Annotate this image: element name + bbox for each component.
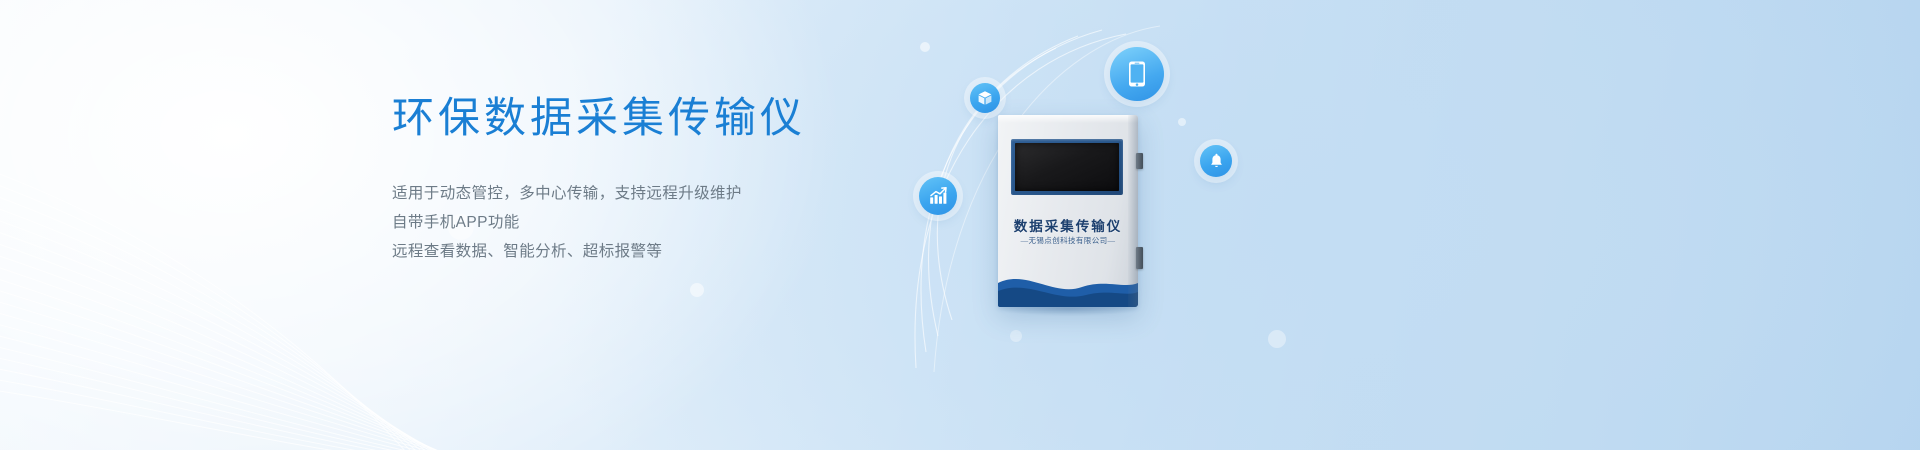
device-wave-graphic [998, 263, 1138, 307]
device-hinge-top [1136, 153, 1143, 169]
device-screen-bezel [1011, 139, 1123, 195]
device-hinge-bottom [1136, 247, 1143, 269]
data-acquisition-device: 数据采集传输仪 —无锡点创科技有限公司— [998, 115, 1138, 307]
device-side-shade [1128, 115, 1138, 307]
bar-chart-growth-icon[interactable] [919, 177, 957, 215]
device-brand-label: 数据采集传输仪 [998, 215, 1138, 235]
product-hero-banner: 环保数据采集传输仪 适用于动态管控，多中心传输，支持远程升级维护 自带手机APP… [0, 0, 1920, 450]
alarm-bell-icon[interactable] [1200, 145, 1232, 177]
decor-bubble [690, 283, 704, 297]
package-box-icon[interactable] [970, 83, 1000, 113]
product-visual: 数据采集传输仪 —无锡点创科技有限公司— [860, 0, 1340, 450]
device-top-highlight [998, 115, 1138, 123]
device-screen [1015, 143, 1119, 191]
mobile-phone-icon[interactable] [1110, 47, 1164, 101]
device-company-label: —无锡点创科技有限公司— [998, 235, 1138, 246]
